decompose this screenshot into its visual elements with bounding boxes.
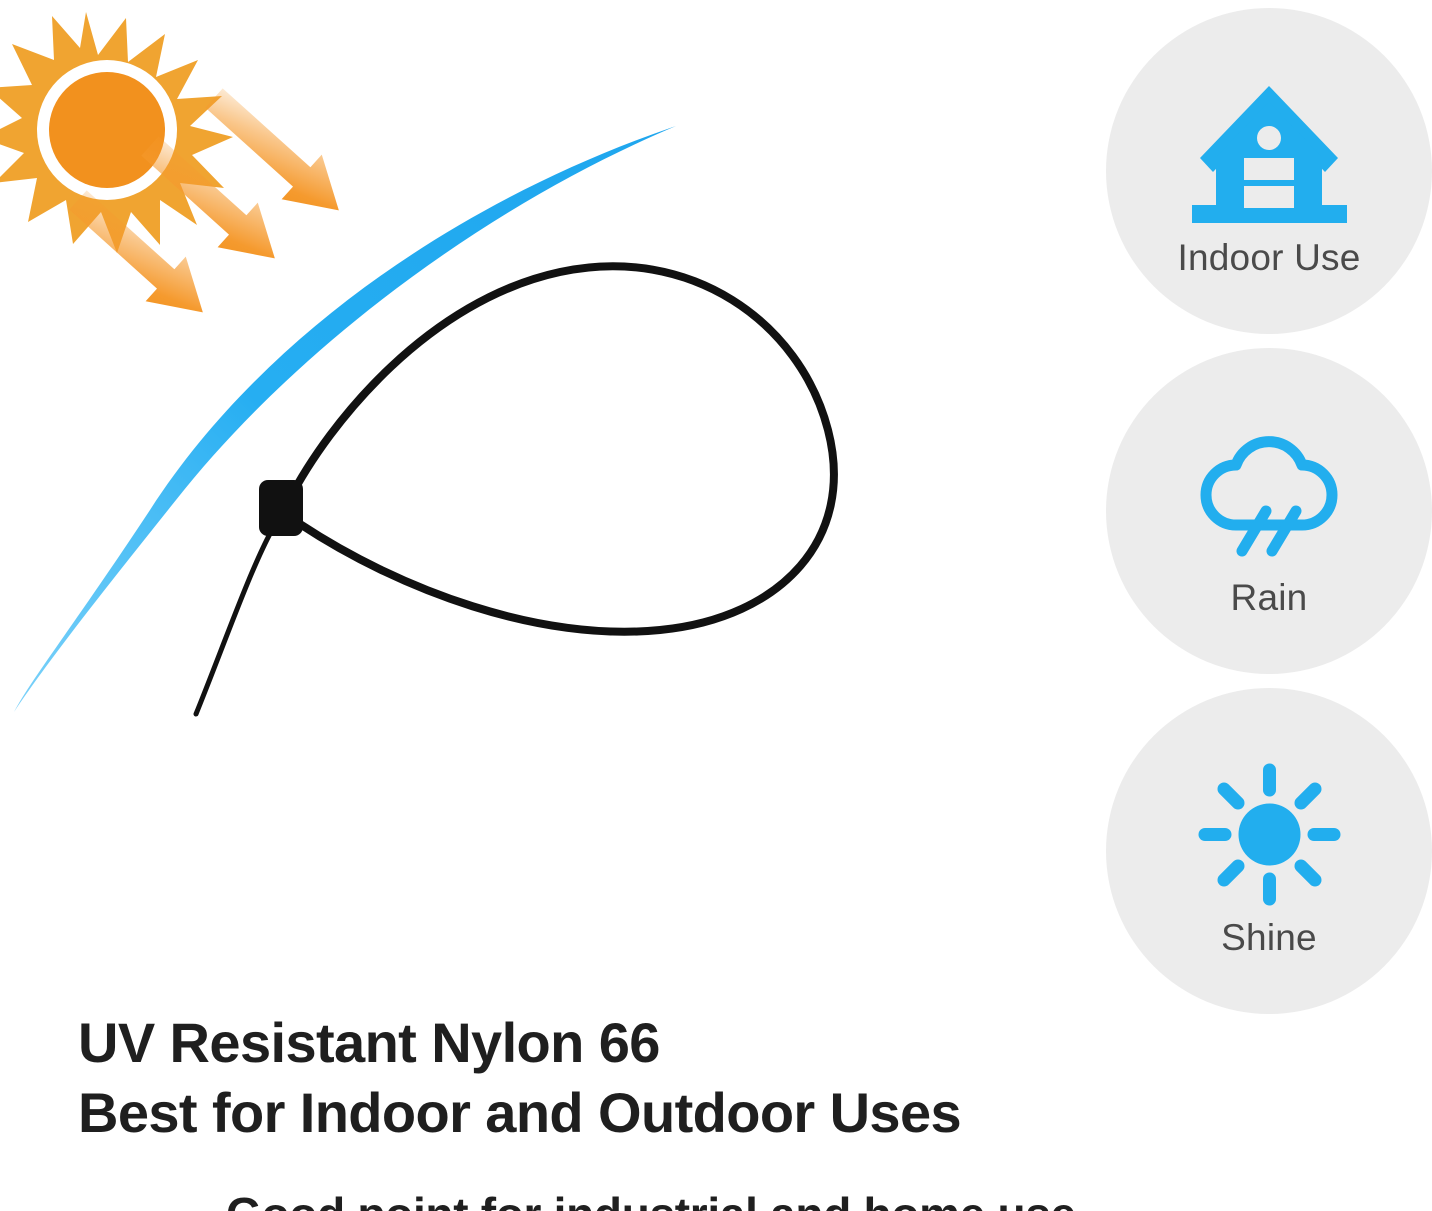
rain-cloud-icon xyxy=(1179,412,1359,577)
uv-resistance-illustration xyxy=(0,0,1060,980)
sun-burst-icon xyxy=(0,12,233,253)
headline-line-3: Good point for industrial and home use xyxy=(226,1186,1226,1211)
feature-badge-list: Indoor Use Rain xyxy=(1106,8,1432,1028)
house-icon xyxy=(1179,72,1359,237)
feature-badge-label: Indoor Use xyxy=(1178,239,1361,276)
sun-core xyxy=(49,72,165,188)
sun-shine-icon xyxy=(1179,752,1359,917)
headline-line-1: UV Resistant Nylon 66 xyxy=(78,1008,1078,1078)
feature-badge-rain[interactable]: Rain xyxy=(1106,348,1432,674)
product-feature-infographic: Indoor Use Rain xyxy=(0,0,1432,1211)
feature-badge-shine[interactable]: Shine xyxy=(1106,688,1432,1014)
feature-badge-label: Rain xyxy=(1231,579,1308,616)
feature-badge-label: Shine xyxy=(1221,919,1317,956)
cable-tie-head xyxy=(259,480,303,536)
cable-tie-loop xyxy=(288,266,834,631)
feature-badge-indoor-use[interactable]: Indoor Use xyxy=(1106,8,1432,334)
headline-block: UV Resistant Nylon 66 Best for Indoor an… xyxy=(78,1008,1078,1148)
headline-line-2: Best for Indoor and Outdoor Uses xyxy=(78,1078,1078,1148)
cable-tie-tail xyxy=(196,530,272,714)
